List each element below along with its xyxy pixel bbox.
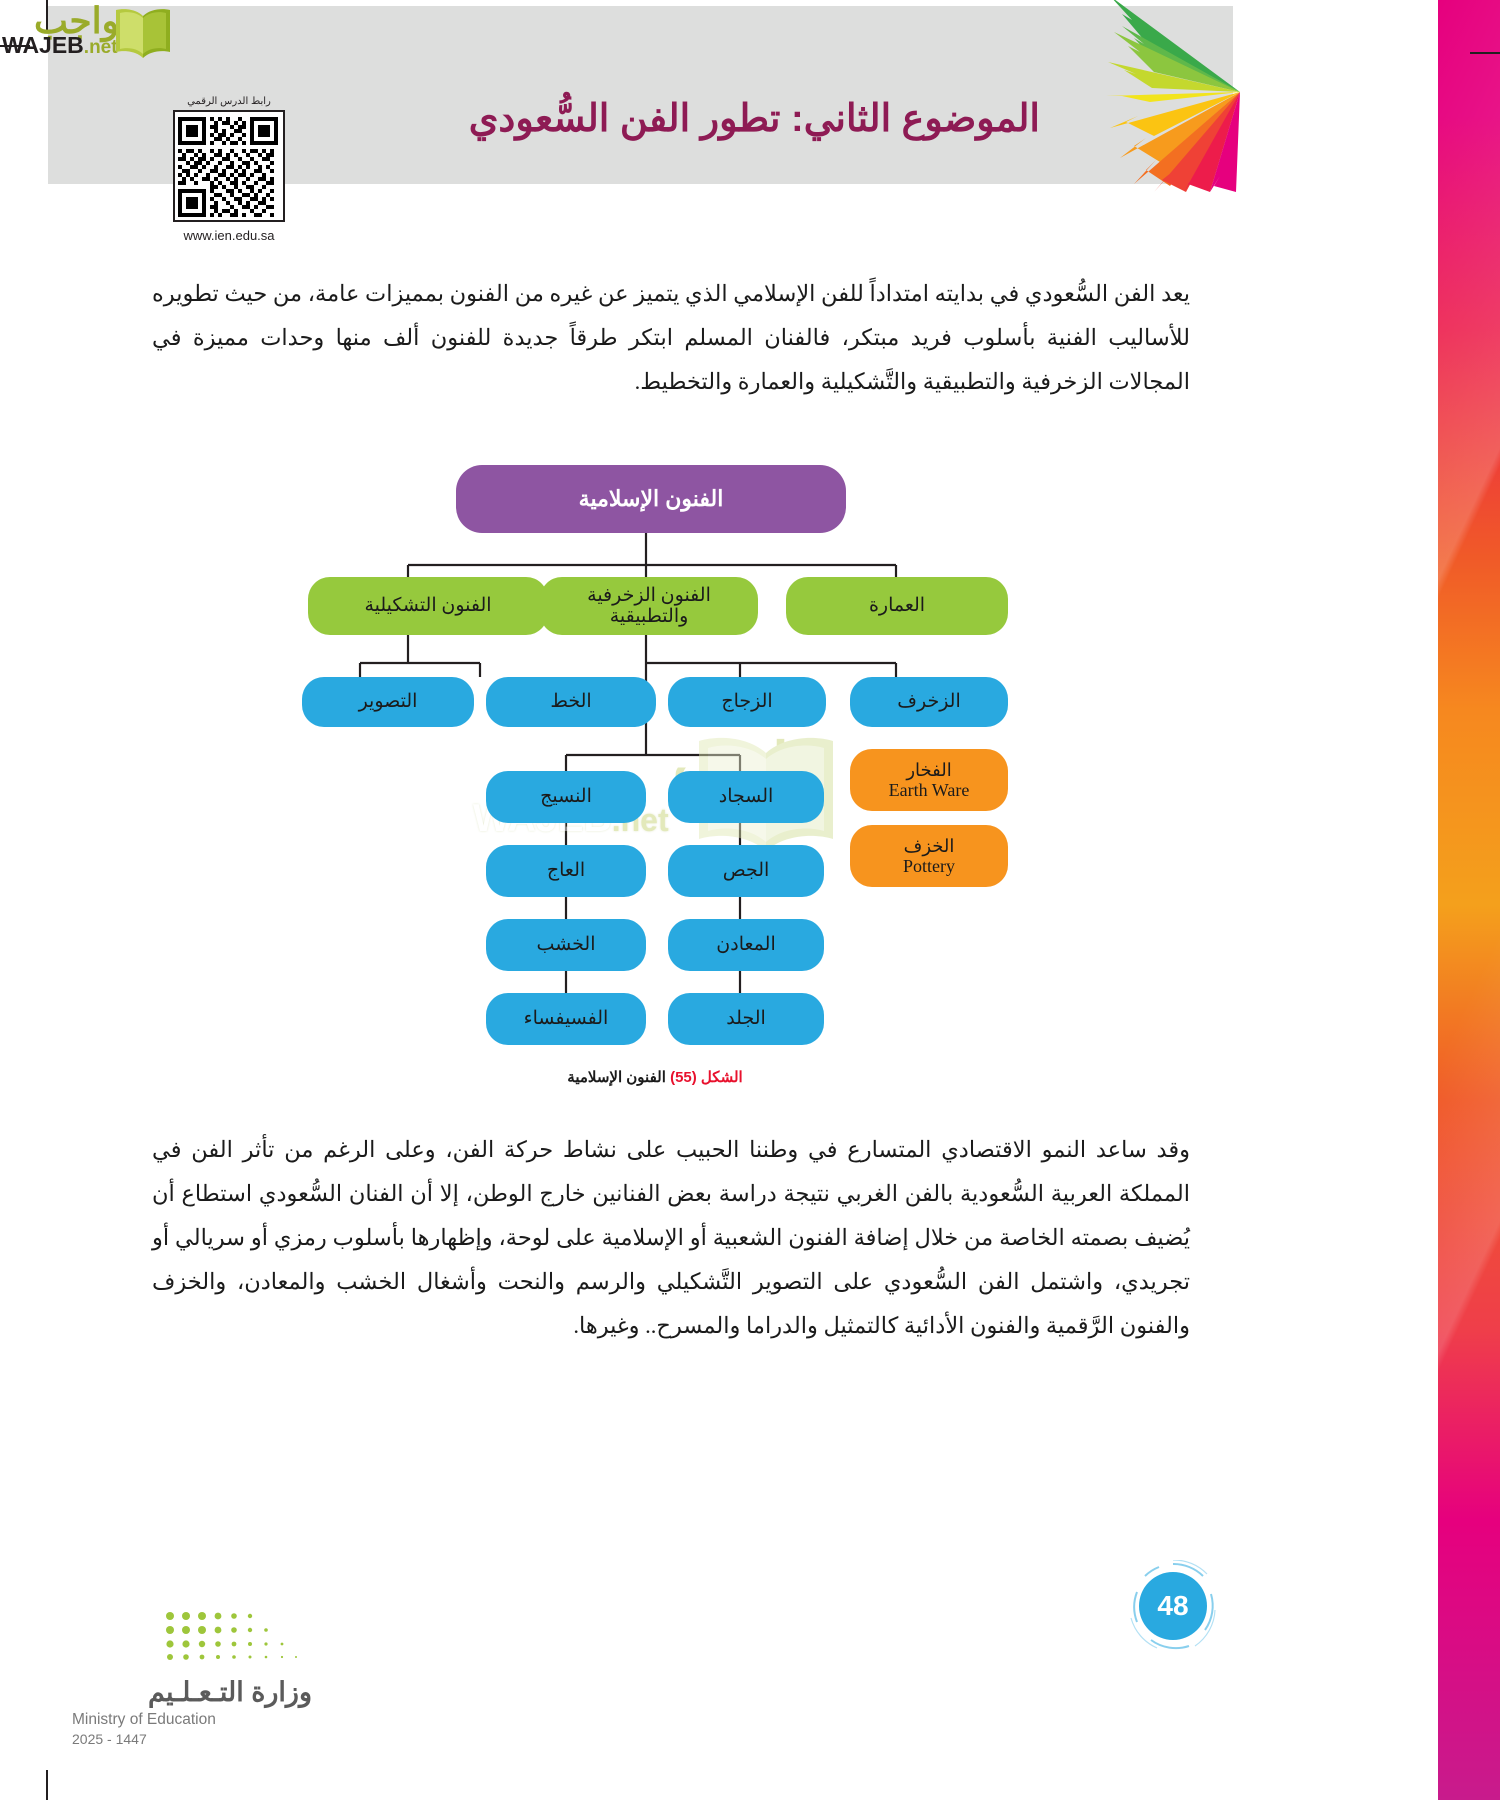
node-pottery[interactable]: الخزف Pottery — [850, 825, 1008, 887]
ministry-name-english: Ministry of Education — [72, 1711, 312, 1729]
node-zukhruf[interactable]: الزخرف — [850, 677, 1008, 727]
ministry-of-education-logo: وزارة التـعـلـيم Ministry of Education 2… — [72, 1608, 312, 1747]
node-label-english: Pottery — [903, 856, 955, 876]
node-tasweer[interactable]: التصوير — [302, 677, 474, 727]
open-book-icon — [112, 4, 174, 67]
wajeb-latin-text: WAJEB.net — [2, 32, 118, 59]
node-label-arabic: الخزف — [904, 836, 955, 856]
node-zujaj[interactable]: الزجاج — [668, 677, 826, 727]
node-sajjad[interactable]: السجاد — [668, 771, 824, 823]
node-plastic-arts[interactable]: الفنون التشكيلية — [308, 577, 548, 635]
figure-caption-text: الفنون الإسلامية — [567, 1069, 670, 1086]
node-islamic-arts-root[interactable]: الفنون الإسلامية — [456, 465, 846, 533]
node-label: الخط — [550, 691, 591, 712]
node-khat[interactable]: الخط — [486, 677, 656, 727]
node-label: المعادن — [716, 934, 775, 955]
node-earthware[interactable]: الفخار Earth Ware — [850, 749, 1008, 811]
node-label-line1: الفنون الزخرفية — [587, 585, 711, 606]
node-label-line2: والتطبيقية — [610, 606, 689, 627]
node-jild[interactable]: الجلد — [668, 993, 824, 1045]
page-number-badge: 48 — [1139, 1572, 1207, 1640]
node-label: العاج — [547, 860, 585, 881]
ministry-name-arabic: وزارة التـعـلـيم — [72, 1677, 312, 1708]
qr-url-text: www.ien.edu.sa — [168, 228, 290, 243]
islamic-arts-tree-diagram: الفنون الإسلامية الفنون التشكيلية الفنون… — [290, 455, 1020, 1055]
crop-mark-bottom-left-vertical — [46, 1770, 48, 1800]
node-naseej[interactable]: النسيج — [486, 771, 646, 823]
qr-caption: رابط الدرس الرقمي — [168, 96, 290, 107]
node-label: السجاد — [719, 786, 774, 807]
closing-paragraph: وقد ساعد النمو الاقتصادي المتسارع في وطن… — [152, 1128, 1190, 1348]
node-label: الفنون الإسلامية — [579, 487, 724, 512]
node-label-arabic: الفخار — [906, 760, 951, 780]
node-label: الفسيفساء — [524, 1008, 609, 1029]
page-title: الموضوع الثاني: تطور الفن السُّعودي — [300, 96, 1040, 141]
node-label: الخشب — [537, 934, 596, 955]
node-maadin[interactable]: المعادن — [668, 919, 824, 971]
textbook-page: الموضوع الثاني: تطور الفن السُّعودي واجب… — [0, 0, 1500, 1800]
node-label: الزخرف — [897, 691, 960, 712]
ministry-years: 2025 - 1447 — [72, 1731, 312, 1747]
crop-mark-top-right-horizontal — [1470, 52, 1500, 54]
intro-paragraph: يعد الفن السُّعودي في بدايته امتداداً لل… — [152, 272, 1190, 404]
node-label: الزجاج — [721, 691, 772, 712]
node-decorative-applied-arts[interactable]: الفنون الزخرفية والتطبيقية — [540, 577, 758, 635]
edge-color-ribbon — [1438, 0, 1500, 1800]
qr-code-icon[interactable] — [173, 110, 285, 222]
figure-caption: الشكل (55) الفنون الإسلامية — [290, 1068, 1020, 1086]
node-jass[interactable]: الجص — [668, 845, 824, 897]
node-label: التصوير — [359, 691, 418, 712]
digital-lesson-qr-block[interactable]: رابط الدرس الرقمي — [168, 96, 290, 243]
node-label: العمارة — [869, 595, 925, 616]
wajeb-watermark-logo: واجب WAJEB.net — [2, 2, 177, 64]
node-architecture[interactable]: العمارة — [786, 577, 1008, 635]
rainbow-fan-decoration — [1040, 0, 1240, 192]
node-label: الفنون التشكيلية — [364, 595, 491, 616]
node-fusayfisaa[interactable]: الفسيفساء — [486, 993, 646, 1045]
node-label: النسيج — [540, 786, 592, 807]
node-khashab[interactable]: الخشب — [486, 919, 646, 971]
node-label: الجلد — [726, 1008, 766, 1029]
ribbon-gap — [1431, 0, 1438, 1800]
figure-number: الشكل (55) — [670, 1069, 743, 1086]
node-label-english: Earth Ware — [889, 780, 970, 800]
page-number: 48 — [1139, 1572, 1207, 1640]
node-label: الجص — [723, 860, 770, 881]
node-aaj[interactable]: العاج — [486, 845, 646, 897]
dot-pattern-icon — [162, 1608, 312, 1666]
